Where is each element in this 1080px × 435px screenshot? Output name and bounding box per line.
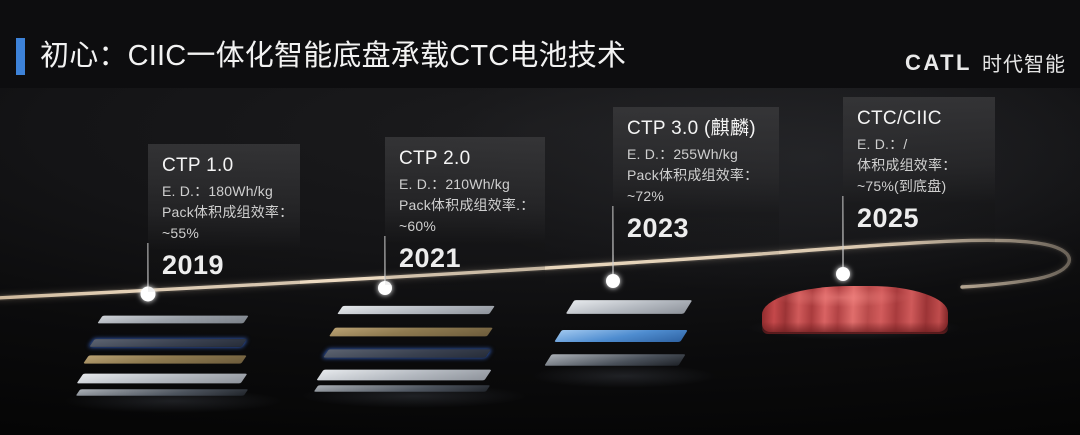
milestone-node-2025[interactable] [836, 267, 850, 281]
pack-layer-cover [97, 316, 248, 324]
pack-layer-tray [316, 370, 491, 381]
card-efficiency-label: 体积成组效率： [857, 155, 981, 176]
product-render-2019 [78, 310, 268, 405]
milestone-card-ctp3[interactable]: CTP 3.0 (麒麟) E. D.：255Wh/kg Pack体积成组效率： … [613, 107, 779, 255]
card-efficiency-value: ~55% [162, 223, 286, 244]
brand-chinese-text: 时代智能 [982, 48, 1066, 77]
qilin-layer-base [544, 354, 685, 366]
card-energy-density: E. D.：255Wh/kg [627, 144, 765, 165]
pack-layer-modules [329, 328, 493, 337]
slide-root: 初心：CIIC一体化智能底盘承载CTC电池技术 CATL 时代智能 [0, 0, 1080, 435]
card-year: 2021 [399, 241, 531, 275]
pack-layer-base [76, 389, 248, 396]
pack-layer-cells [323, 349, 491, 357]
slide-header: 初心：CIIC一体化智能底盘承载CTC电池技术 CATL 时代智能 [0, 0, 1080, 88]
brand-latin-text: CATL [905, 50, 972, 76]
card-year: 2019 [162, 248, 286, 282]
card-title: CTP 2.0 [399, 146, 531, 172]
red-cloth-cover [762, 286, 948, 332]
page-title: 初心：CIIC一体化智能底盘承载CTC电池技术 [40, 36, 626, 76]
pack-layer-modules [83, 355, 247, 363]
card-title: CTC/CIIC [857, 106, 981, 132]
product-render-2023 [544, 296, 704, 380]
milestone-card-ctp1[interactable]: CTP 1.0 E. D.：180Wh/kg Pack体积成组效率： ~55% … [148, 144, 300, 292]
card-energy-density: E. D.：180Wh/kg [162, 181, 286, 202]
catl-logo: CATL 时代智能 [905, 48, 1066, 77]
milestone-node-2023[interactable] [606, 274, 620, 288]
card-title: CTP 1.0 [162, 153, 286, 179]
milestone-card-ctp2[interactable]: CTP 2.0 E. D.：210Wh/kg Pack体积成组效率.： ~60%… [385, 137, 545, 285]
product-render-2021 [316, 302, 512, 400]
pack-layer-tray [77, 374, 248, 384]
card-efficiency-label: Pack体积成组效率： [627, 165, 765, 186]
card-energy-density: E. D.：/ [857, 134, 981, 155]
red-cloth-highlight [773, 288, 911, 307]
title-accent-bar [16, 38, 25, 75]
pack-layer-cover [337, 306, 495, 314]
pack-layer-base [314, 385, 490, 392]
qilin-layer-cooling [554, 330, 687, 342]
card-year: 2025 [857, 201, 981, 235]
card-efficiency-value: ~72% [627, 186, 765, 207]
card-efficiency-value: ~60% [399, 216, 531, 237]
milestone-card-ctcciic[interactable]: CTC/CIIC E. D.：/ 体积成组效率： ~75%(到底盘) 2025 [843, 97, 995, 245]
card-energy-density: E. D.：210Wh/kg [399, 174, 531, 195]
qilin-layer-cover [566, 300, 693, 314]
card-year: 2023 [627, 211, 765, 245]
product-render-2025 [762, 286, 948, 332]
card-title: CTP 3.0 (麒麟) [627, 116, 765, 142]
pack-layer-cells [89, 339, 246, 347]
card-efficiency-label: Pack体积成组效率： [162, 202, 286, 223]
slide-stage: CTP 1.0 E. D.：180Wh/kg Pack体积成组效率： ~55% … [0, 88, 1080, 435]
card-efficiency-label: Pack体积成组效率.： [399, 195, 531, 216]
card-efficiency-value: ~75%(到底盘) [857, 176, 981, 197]
